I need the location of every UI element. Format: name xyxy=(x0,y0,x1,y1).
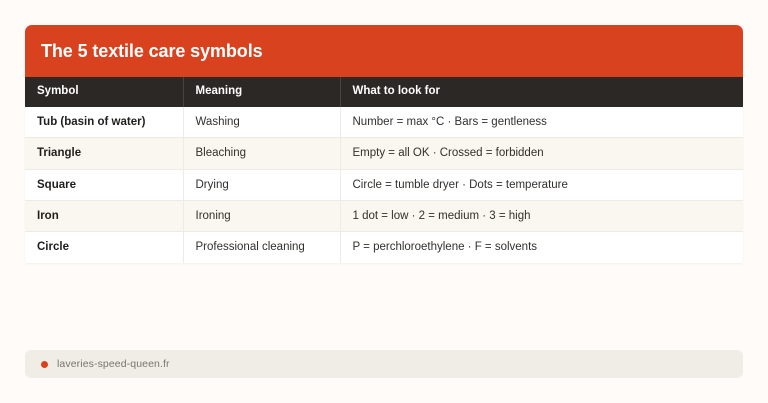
cell-look: Empty = all OK · Crossed = forbidden xyxy=(340,138,743,169)
cell-meaning: Professional cleaning xyxy=(183,232,340,263)
table-row: Triangle Bleaching Empty = all OK · Cros… xyxy=(25,138,743,169)
table-row: Iron Ironing 1 dot = low · 2 = medium · … xyxy=(25,200,743,231)
cell-symbol: Triangle xyxy=(25,138,183,169)
cell-look: 1 dot = low · 2 = medium · 3 = high xyxy=(340,200,743,231)
source-bar[interactable]: laveries-speed-queen.fr xyxy=(25,350,743,378)
column-header-look[interactable]: What to look for xyxy=(340,77,743,107)
care-symbols-card: The 5 textile care symbols Symbol Meanin… xyxy=(25,25,743,263)
column-header-symbol[interactable]: Symbol xyxy=(25,77,183,107)
care-symbols-table: Symbol Meaning What to look for Tub (bas… xyxy=(25,77,743,263)
table-header-row: Symbol Meaning What to look for xyxy=(25,77,743,107)
cell-look: Number = max °C · Bars = gentleness xyxy=(340,107,743,138)
source-dot-icon xyxy=(41,361,48,368)
cell-symbol: Square xyxy=(25,169,183,200)
cell-look: Circle = tumble dryer · Dots = temperatu… xyxy=(340,169,743,200)
table-body: Tub (basin of water) Washing Number = ma… xyxy=(25,107,743,263)
cell-symbol: Tub (basin of water) xyxy=(25,107,183,138)
column-header-meaning[interactable]: Meaning xyxy=(183,77,340,107)
source-label: laveries-speed-queen.fr xyxy=(57,359,170,370)
table-row: Square Drying Circle = tumble dryer · Do… xyxy=(25,169,743,200)
cell-symbol: Iron xyxy=(25,200,183,231)
cell-look: P = perchloroethylene · F = solvents xyxy=(340,232,743,263)
page-title: The 5 textile care symbols xyxy=(25,25,743,77)
cell-meaning: Drying xyxy=(183,169,340,200)
table-header: Symbol Meaning What to look for xyxy=(25,77,743,107)
cell-symbol: Circle xyxy=(25,232,183,263)
page-root: The 5 textile care symbols Symbol Meanin… xyxy=(0,0,768,403)
table-row: Circle Professional cleaning P = perchlo… xyxy=(25,232,743,263)
cell-meaning: Washing xyxy=(183,107,340,138)
cell-meaning: Ironing xyxy=(183,200,340,231)
cell-meaning: Bleaching xyxy=(183,138,340,169)
table-row: Tub (basin of water) Washing Number = ma… xyxy=(25,107,743,138)
